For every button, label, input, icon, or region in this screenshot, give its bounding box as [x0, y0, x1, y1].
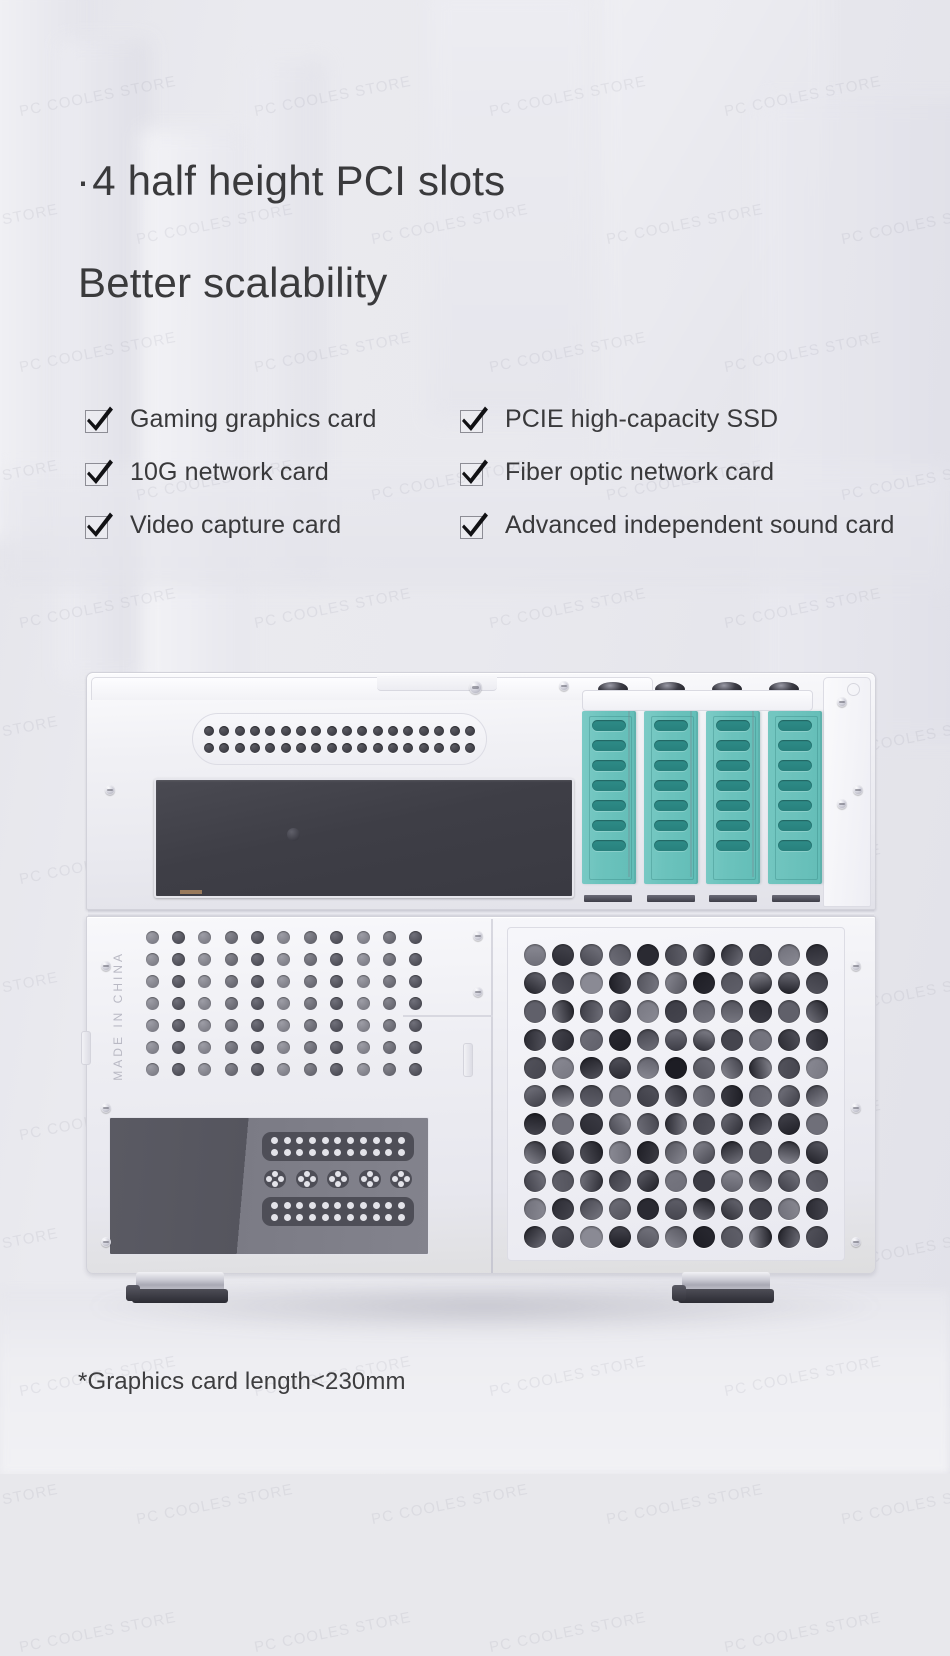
hdd-vent-hole — [309, 1214, 316, 1221]
fan-grille-hole — [749, 1198, 771, 1220]
hdd-vent-hole — [360, 1202, 367, 1209]
vent-hole — [265, 726, 275, 736]
hdd-vent-hole — [385, 1214, 392, 1221]
feature-row: Gaming graphics cardPCIE high-capacity S… — [84, 404, 944, 435]
watermark-text: PC COOLES STORE — [253, 1609, 413, 1656]
fan-grille-hole — [637, 1113, 659, 1135]
hdd-vent-hole — [398, 1149, 405, 1156]
hdd-vent-hole — [322, 1149, 329, 1156]
vent-hole — [277, 1063, 290, 1076]
case-upper-section — [86, 672, 876, 910]
hdd-vent-hole — [334, 1214, 341, 1221]
vent-hole — [383, 997, 396, 1010]
vent-hole — [450, 743, 460, 753]
fan-grille-hole — [524, 1029, 546, 1051]
bracket-vent-slot — [778, 720, 812, 731]
feature-label: PCIE high-capacity SSD — [505, 404, 778, 434]
fan-grille-hole — [778, 1113, 800, 1135]
case-screw — [469, 681, 482, 694]
hdd-clover-vent — [264, 1170, 286, 1188]
vent-hole — [311, 743, 321, 753]
vent-hole — [357, 743, 367, 753]
fan-grille-hole — [609, 1057, 631, 1079]
bracket-vent-slot — [778, 820, 812, 831]
hdd-vent-hole — [334, 1202, 341, 1209]
hdd-vent-hole — [271, 1214, 278, 1221]
bracket-vent-slot — [592, 720, 626, 731]
fan-grille-hole — [721, 972, 743, 994]
fan-grille-hole — [665, 1198, 687, 1220]
watermark-text: PC COOLES STORE — [488, 1609, 648, 1656]
fan-grille-hole — [637, 1198, 659, 1220]
page-title: ·4 half height PCI slots — [78, 160, 505, 202]
feature-item: Gaming graphics card — [84, 404, 459, 435]
vent-hole — [409, 975, 422, 988]
vent-hole — [172, 931, 185, 944]
pci-bracket-row[interactable] — [582, 711, 822, 875]
watermark-text: PC COOLES STORE — [370, 1481, 530, 1528]
fan-grille-hole — [524, 1170, 546, 1192]
case-screw — [101, 1103, 111, 1113]
fan-grille-hole — [609, 1085, 631, 1107]
bracket-vent-slot — [778, 760, 812, 771]
hdd-vent-hole — [284, 1214, 291, 1221]
vent-hole — [198, 975, 211, 988]
vent-hole — [235, 726, 245, 736]
vent-hole — [434, 743, 444, 753]
fan-grille-hole — [580, 1170, 602, 1192]
hdd-vent-hole — [296, 1149, 303, 1156]
vent-hole — [383, 1019, 396, 1032]
fan-grille-hole — [580, 1029, 602, 1051]
fan-grille — [507, 927, 845, 1261]
fan-grille-hole — [637, 1226, 659, 1248]
bay-tag — [180, 890, 202, 894]
fan-grille-hole — [806, 1198, 828, 1220]
case-screw — [473, 987, 483, 997]
vent-hole — [357, 726, 367, 736]
hdd-vent-hole — [322, 1137, 329, 1144]
vent-hole — [357, 931, 370, 944]
vent-hole — [172, 953, 185, 966]
hdd-vent-cluster — [262, 1132, 414, 1226]
case-screw — [837, 799, 847, 809]
hdd-vent-hole — [322, 1214, 329, 1221]
vent-hole — [373, 726, 383, 736]
fan-grille-hole — [524, 1057, 546, 1079]
fan-grille-hole — [806, 1057, 828, 1079]
vent-hole — [330, 931, 343, 944]
fan-grille-hole — [665, 1170, 687, 1192]
vent-hole — [219, 726, 229, 736]
vent-hole — [172, 997, 185, 1010]
hdd-vent-hole — [360, 1214, 367, 1221]
vent-hole — [434, 726, 444, 736]
fan-grille-hole — [580, 1226, 602, 1248]
fan-grille-hole — [778, 1170, 800, 1192]
fan-grille-hole — [524, 944, 546, 966]
vent-hole — [277, 1041, 290, 1054]
foot-rubber — [678, 1289, 774, 1303]
hdd-vent-band — [262, 1132, 414, 1161]
fan-grille-hole — [778, 1057, 800, 1079]
bracket-vent-slot — [716, 820, 750, 831]
hdd-vent-hole — [296, 1137, 303, 1144]
fan-grille-hole — [721, 1113, 743, 1135]
fan-grille-hole — [609, 1226, 631, 1248]
checkbox-checked-icon — [84, 513, 112, 541]
fan-grille-hole — [552, 944, 574, 966]
feature-item: Fiber optic network card — [459, 457, 944, 488]
footnote-text: *Graphics card length<230mm — [78, 1368, 406, 1396]
title-lead-mark: · — [76, 160, 90, 202]
fan-grille-hole — [806, 1029, 828, 1051]
vent-hole — [281, 743, 291, 753]
fan-grille-hole — [806, 972, 828, 994]
check-mark-icon — [459, 456, 489, 488]
bracket-vent-slot — [778, 780, 812, 791]
vent-hole — [146, 1019, 159, 1032]
pci-bracket-tab — [584, 895, 632, 902]
fan-grille-hole — [806, 1226, 828, 1248]
vent-hole — [146, 997, 159, 1010]
fan-grille-hole — [552, 1226, 574, 1248]
fan-grille-hole — [721, 1029, 743, 1051]
vent-hole — [277, 953, 290, 966]
bracket-vent-slot — [716, 840, 750, 851]
fan-grille-hole — [721, 1198, 743, 1220]
fan-grille-hole — [749, 1029, 771, 1051]
fan-grille-hole — [693, 944, 715, 966]
fan-grille-hole — [749, 1226, 771, 1248]
vent-hole — [198, 997, 211, 1010]
bracket-rail — [690, 691, 692, 877]
fan-grille-hole — [580, 1057, 602, 1079]
fan-grille-hole — [749, 1000, 771, 1022]
vent-hole — [409, 931, 422, 944]
check-mark-icon — [459, 509, 489, 541]
case-screw — [837, 697, 847, 707]
fan-grille-hole — [552, 1029, 574, 1051]
vent-hole — [304, 1019, 317, 1032]
watermark-text: PC COOLES STORE — [18, 1609, 178, 1656]
vent-hole — [304, 1041, 317, 1054]
bracket-vent-slot — [592, 800, 626, 811]
feature-label: Video capture card — [130, 510, 341, 540]
feature-row: 10G network cardFiber optic network card — [84, 457, 944, 488]
vent-hole — [198, 1019, 211, 1032]
case-screw — [101, 961, 111, 971]
fan-grille-hole — [524, 1113, 546, 1135]
case-side-clip — [463, 1043, 473, 1077]
hdd-vent-hole — [347, 1137, 354, 1144]
vent-hole — [383, 931, 396, 944]
vent-hole — [357, 975, 370, 988]
check-mark-icon — [84, 509, 114, 541]
vent-hole — [419, 726, 429, 736]
hdd-clover-vent — [390, 1170, 412, 1188]
vent-hole — [251, 1019, 264, 1032]
vent-hole — [225, 1041, 238, 1054]
fan-grille-hole — [552, 1141, 574, 1163]
fan-grille-hole — [806, 1170, 828, 1192]
vent-hole — [235, 743, 245, 753]
pci-bracket-tab — [709, 895, 757, 902]
fan-grille-hole — [806, 944, 828, 966]
rail-hole — [847, 683, 860, 696]
fan-grille-hole — [665, 1057, 687, 1079]
fan-grille-hole — [637, 1141, 659, 1163]
hdd-vent-hole — [385, 1137, 392, 1144]
vent-hole — [342, 743, 352, 753]
vent-hole — [304, 953, 317, 966]
fan-grille-hole — [749, 972, 771, 994]
vent-hole — [146, 1063, 159, 1076]
fan-grille-hole — [693, 1198, 715, 1220]
fan-grille-hole — [637, 1057, 659, 1079]
vent-hole — [388, 726, 398, 736]
pci-bracket-tabs — [584, 895, 820, 903]
watermark-text: PC COOLES STORE — [605, 1481, 765, 1528]
vent-hole — [357, 1063, 370, 1076]
fan-grille-hole — [778, 1085, 800, 1107]
made-in-china-marking: MADE IN CHINA — [111, 951, 125, 1081]
fan-grille-hole — [749, 1085, 771, 1107]
fan-grille-hole — [524, 972, 546, 994]
fan-grille-hole — [637, 1000, 659, 1022]
fan-grille-hole — [665, 1226, 687, 1248]
fan-grille-hole — [637, 1170, 659, 1192]
fan-grille-hole — [665, 1141, 687, 1163]
hdd-clover-row — [264, 1170, 412, 1188]
vent-hole — [409, 1041, 422, 1054]
title-text: 4 half height PCI slots — [92, 157, 505, 204]
vent-hole — [225, 1063, 238, 1076]
fan-grille-hole — [637, 1029, 659, 1051]
case-side-clip — [81, 1031, 91, 1065]
bracket-vent-slot — [654, 740, 688, 751]
bracket-vent-slot — [654, 800, 688, 811]
fan-grille-hole — [524, 1198, 546, 1220]
feature-label: 10G network card — [130, 457, 329, 487]
vent-hole — [251, 975, 264, 988]
vent-hole — [465, 743, 475, 753]
case-screw — [473, 931, 483, 941]
vent-hole — [409, 1019, 422, 1032]
hdd-vent-hole — [296, 1202, 303, 1209]
hdd-vent-hole — [284, 1137, 291, 1144]
vent-hole — [277, 975, 290, 988]
fan-grille-hole — [609, 944, 631, 966]
hdd-clover-vent — [296, 1170, 318, 1188]
case-foot — [674, 1272, 778, 1302]
pci-bracket-tab — [647, 895, 695, 902]
fan-grille-hole — [552, 1000, 574, 1022]
vent-hole — [296, 726, 306, 736]
watermark-text: PC COOLES STORE — [135, 1481, 295, 1528]
vent-hole — [172, 1041, 185, 1054]
check-mark-icon — [459, 403, 489, 435]
hdd-vent-hole — [309, 1137, 316, 1144]
feature-label: Fiber optic network card — [505, 457, 774, 487]
fan-grille-hole — [580, 1141, 602, 1163]
vent-hole — [450, 726, 460, 736]
vent-hole — [357, 1019, 370, 1032]
fan-grille-hole — [580, 944, 602, 966]
bracket-vent-slot — [654, 780, 688, 791]
pci-slot-bracket[interactable] — [582, 711, 636, 884]
fan-grille-hole — [806, 1085, 828, 1107]
vent-hole — [342, 726, 352, 736]
lower-panel-step — [403, 1015, 493, 1017]
vent-hole — [251, 1063, 264, 1076]
bracket-vent-slot — [654, 720, 688, 731]
check-mark-icon — [84, 403, 114, 435]
vent-hole — [409, 1063, 422, 1076]
vent-hole — [172, 1019, 185, 1032]
fan-grille-hole — [609, 1170, 631, 1192]
case-screw — [105, 785, 115, 795]
hdd-vent-hole — [309, 1202, 316, 1209]
fan-grille-hole — [609, 972, 631, 994]
hdd-vent-hole — [309, 1149, 316, 1156]
vent-hole — [281, 726, 291, 736]
fan-grille-hole — [721, 1226, 743, 1248]
pci-retention-bar[interactable] — [582, 690, 813, 711]
vent-hole — [225, 997, 238, 1010]
hdd-vent-hole — [385, 1149, 392, 1156]
vent-hole — [146, 1041, 159, 1054]
checkbox-checked-icon — [84, 407, 112, 435]
hdd-vent-hole — [347, 1149, 354, 1156]
fan-grille-hole — [778, 972, 800, 994]
checkbox-checked-icon — [459, 460, 487, 488]
vent-hole — [327, 726, 337, 736]
vent-hole — [311, 726, 321, 736]
case-screw — [559, 681, 569, 691]
fan-grille-hole — [806, 1141, 828, 1163]
pci-bracket-tab — [772, 895, 820, 902]
fan-grille-hole — [524, 1226, 546, 1248]
bracket-vent-slot — [654, 760, 688, 771]
vent-hole — [198, 1063, 211, 1076]
watermark-text: PC COOLES STORE — [0, 1481, 60, 1528]
vent-hole — [277, 997, 290, 1010]
vent-hole — [327, 743, 337, 753]
pci-slot-bracket[interactable] — [644, 711, 698, 884]
fan-grille-hole — [778, 1198, 800, 1220]
fan-grille-hole — [609, 1029, 631, 1051]
fan-grille-hole — [665, 972, 687, 994]
fan-grille-hole — [749, 1113, 771, 1135]
hdd-vent-hole — [398, 1137, 405, 1144]
vent-hole — [198, 931, 211, 944]
vent-hole — [250, 743, 260, 753]
top-vent-strip — [192, 713, 487, 765]
hdd-vent-hole — [271, 1202, 278, 1209]
computer-case-photo: MADE IN CHINA — [86, 672, 876, 1282]
hdd-vent-hole — [398, 1202, 405, 1209]
vent-hole — [146, 931, 159, 944]
vent-hole — [296, 743, 306, 753]
vent-hole — [383, 1063, 396, 1076]
fan-grille-hole — [693, 1000, 715, 1022]
fan-grille-hole — [552, 1170, 574, 1192]
vent-hole — [357, 953, 370, 966]
vent-hole — [251, 931, 264, 944]
vent-hole — [172, 1063, 185, 1076]
fan-grille-hole — [749, 1170, 771, 1192]
fan-grille-hole — [552, 1057, 574, 1079]
vent-hole — [198, 1041, 211, 1054]
fan-grille-hole — [552, 1113, 574, 1135]
fan-grille-hole — [693, 1029, 715, 1051]
vent-hole — [409, 953, 422, 966]
fan-grille-hole — [721, 1141, 743, 1163]
fan-grille-hole — [665, 1000, 687, 1022]
vent-hole — [388, 743, 398, 753]
fan-grille-hole — [552, 1085, 574, 1107]
pci-slot-bracket[interactable] — [706, 711, 760, 884]
hdd-vent-hole — [322, 1202, 329, 1209]
fan-grille-hole — [665, 1029, 687, 1051]
vent-hole — [251, 997, 264, 1010]
fan-grille-hole — [693, 1141, 715, 1163]
hdd-vent-hole — [373, 1149, 380, 1156]
bracket-vent-slot — [592, 740, 626, 751]
vent-hole — [357, 997, 370, 1010]
vent-hole — [330, 1063, 343, 1076]
bracket-vent-slot — [778, 800, 812, 811]
feature-row: Video capture cardAdvanced independent s… — [84, 510, 944, 541]
fan-grille-hole — [749, 1057, 771, 1079]
fan-grille-hole — [693, 1085, 715, 1107]
hdd-vent-hole — [373, 1202, 380, 1209]
fan-grille-hole — [778, 1226, 800, 1248]
case-screw — [851, 1103, 861, 1113]
case-screw — [851, 961, 861, 971]
fan-grille-hole — [524, 1141, 546, 1163]
vent-hole — [204, 726, 214, 736]
bracket-vent-slot — [592, 760, 626, 771]
case-right-rail — [823, 677, 871, 907]
left-vent-dot-grid — [139, 931, 429, 1076]
vent-hole — [403, 726, 413, 736]
check-mark-icon — [84, 456, 114, 488]
feature-label: Advanced independent sound card — [505, 510, 895, 540]
hdd-vent-hole — [271, 1137, 278, 1144]
fan-grille-hole — [637, 944, 659, 966]
pci-slot-area — [582, 677, 834, 901]
feature-checklist: Gaming graphics cardPCIE high-capacity S… — [84, 404, 944, 563]
fan-grille-hole — [580, 1113, 602, 1135]
fan-grille-hole — [665, 1113, 687, 1135]
hdd-vent-hole — [360, 1149, 367, 1156]
pci-slot-bracket[interactable] — [768, 711, 822, 884]
fan-grille-hole — [806, 1000, 828, 1022]
checkbox-checked-icon — [459, 407, 487, 435]
vent-row — [204, 726, 475, 736]
hdd-vent-hole — [334, 1149, 341, 1156]
bracket-vent-slot — [716, 760, 750, 771]
hdd-vent-hole — [373, 1214, 380, 1221]
vent-hole — [304, 997, 317, 1010]
vent-hole — [330, 997, 343, 1010]
fan-grille-hole — [637, 1085, 659, 1107]
vent-hole — [409, 997, 422, 1010]
hdd-vent-hole — [347, 1202, 354, 1209]
vent-hole — [277, 931, 290, 944]
